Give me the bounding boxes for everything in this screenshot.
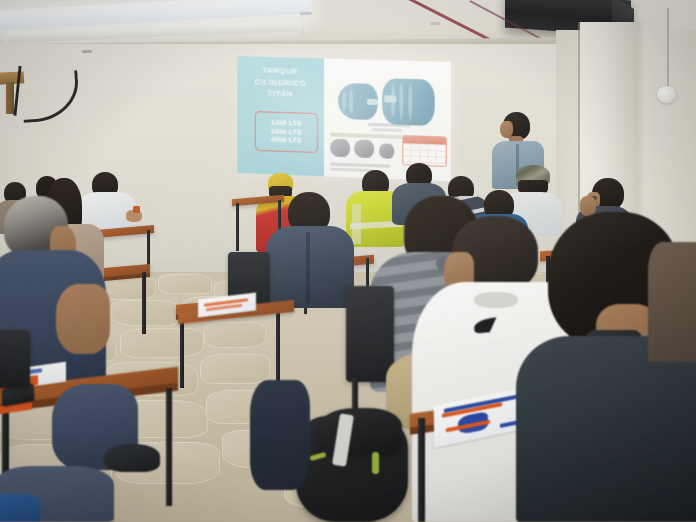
slide-title-line3: TITÁN: [237, 87, 324, 101]
slide-title: TANQUE CILÍNDRICO TITÁN: [237, 64, 324, 101]
collar-white-tee: [474, 292, 518, 308]
pendant-light-bulb: [657, 86, 676, 103]
hivis-reflective-vertical: [352, 204, 361, 244]
desk-leg: [142, 272, 146, 334]
mini-tank-1: [330, 139, 350, 158]
desk-leg-foreground-right: [418, 418, 425, 522]
slide-spec-table: [402, 135, 447, 167]
chair-center-foreground: [346, 286, 394, 382]
slide-capacity-box: 1200 LTS 2000 LTS 4000 LTS: [255, 111, 318, 153]
desk-leg-foreground-left: [166, 388, 172, 506]
slide-capacity-2: 2000 LTS: [271, 128, 301, 136]
desk-leg: [236, 203, 239, 251]
photograph-classroom-presentation: TANQUE CILÍNDRICO TITÁN 1200 LTS 2000 LT…: [0, 0, 696, 522]
desk-leg: [276, 304, 280, 386]
mini-tank-2: [354, 139, 374, 158]
shoe-left: [104, 444, 160, 472]
wristband: [133, 206, 140, 213]
arm-gray-hair-man: [56, 284, 110, 354]
wall-mark-center: [300, 12, 312, 16]
slide-right-panel: [324, 58, 451, 181]
shirt-seam: [306, 232, 310, 304]
slide-capacity-3: 4000 LTS: [271, 136, 301, 144]
mini-tank-3: [379, 143, 394, 159]
tank-image-right: [382, 78, 435, 126]
slide-caption-line-2: [372, 128, 402, 132]
tank-image-left: [338, 83, 378, 120]
blue-garment-corner: [0, 494, 40, 522]
chair-foreground-left: [0, 330, 30, 388]
slide-left-panel: TANQUE CILÍNDRICO TITÁN 1200 LTS 2000 LT…: [237, 56, 324, 176]
backpack-top-flap: [318, 408, 402, 454]
bag-secondary: [250, 380, 310, 490]
torso-right-edge: [648, 242, 696, 362]
wall-bracket-post: [6, 82, 14, 114]
wall-mark-right: [430, 22, 440, 26]
pendant-light-wire: [667, 8, 669, 90]
torso-navy-center: [266, 226, 354, 308]
torso-curly-dark-shirt: [516, 336, 696, 522]
backpack-zipper-right: [372, 452, 379, 474]
slide-caption-line-1: [368, 123, 410, 127]
slide-capacity-1: 1200 LTS: [271, 120, 301, 128]
wall-mark: [82, 50, 92, 53]
